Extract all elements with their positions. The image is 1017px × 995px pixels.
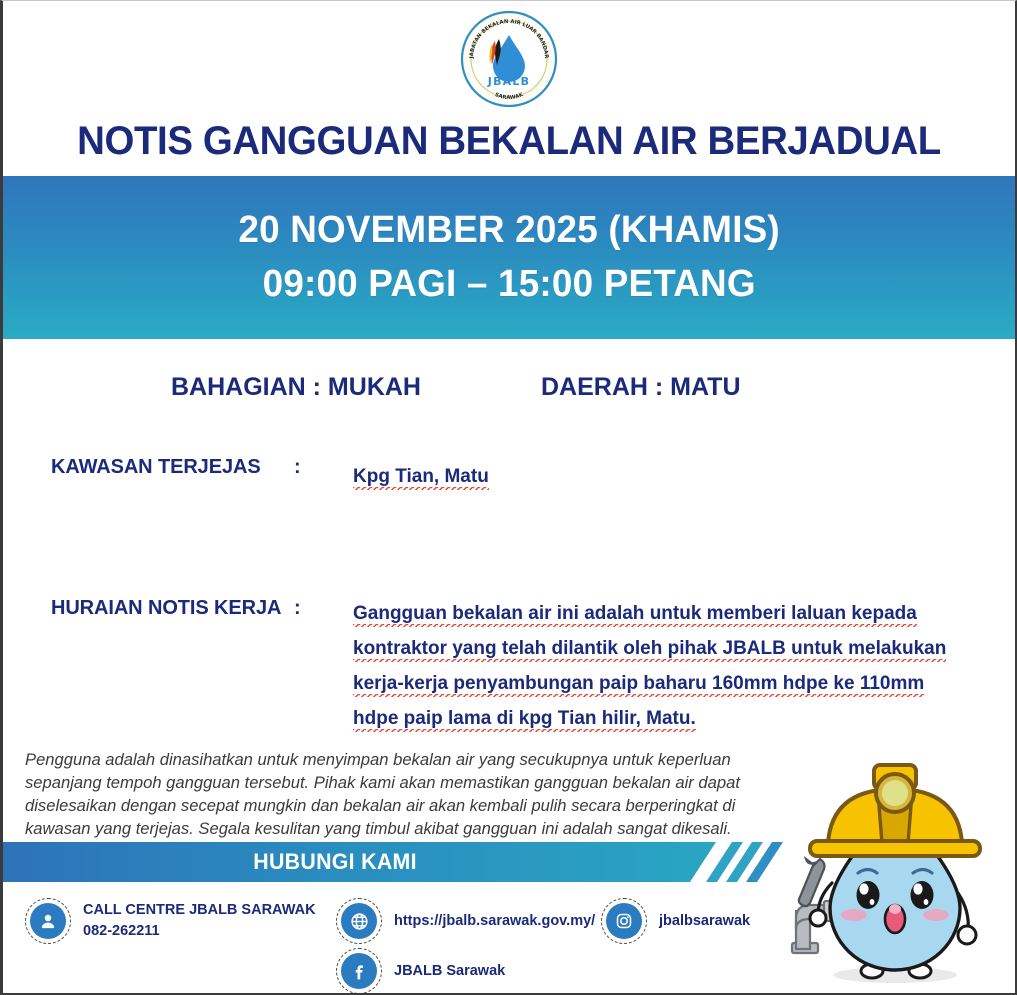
facebook-handle: JBALB Sarawak (394, 961, 505, 982)
huraian-line: Gangguan bekalan air ini adalah untuk me… (353, 603, 917, 627)
huraian-line: hdpe paip lama di kpg Tian hilir, Matu. (353, 708, 696, 732)
hard-hat-icon (810, 765, 980, 856)
huraian-label: HURAIAN NOTIS KERJA (51, 597, 281, 620)
notice-poster: JBALB JABATAN BEKALAN AIR LUAR BANDAR SA… (0, 0, 1017, 995)
huraian-colon: : (294, 597, 301, 620)
jbalb-logo: JBALB JABATAN BEKALAN AIR LUAR BANDAR SA… (459, 9, 559, 109)
call-centre-text: CALL CENTRE JBALB SARAWAK 082-262211 (83, 900, 316, 941)
kawasan-colon: : (294, 456, 301, 479)
svg-text:JBALB: JBALB (487, 75, 530, 88)
contact-facebook[interactable]: JBALB Sarawak (336, 948, 505, 994)
kawasan-label: KAWASAN TERJEJAS (51, 456, 261, 479)
kawasan-value-text: Kpg Tian, Matu (353, 466, 489, 490)
huraian-value: Gangguan bekalan air ini adalah untuk me… (353, 596, 953, 736)
bahagian-label: BAHAGIAN : MUKAH (171, 373, 421, 402)
disclaimer-text: Pengguna adalah dinasihatkan untuk menyi… (25, 749, 755, 841)
contact-website[interactable]: https://jbalb.sarawak.gov.my/ (336, 898, 595, 944)
page-title: NOTIS GANGGUAN BEKALAN AIR BERJADUAL (23, 119, 995, 164)
instagram-icon (601, 898, 647, 944)
contact-instagram[interactable]: jbalbsarawak (601, 898, 750, 944)
daerah-label: DAERAH : MATU (541, 373, 741, 402)
contact-heading: HUBUNGI KAMI (253, 849, 465, 875)
huraian-line: kontraktor yang telah dilantik oleh piha… (353, 638, 946, 662)
water-droplet-mascot (770, 743, 1010, 993)
outage-time: 09:00 PAGI – 15:00 PETANG (262, 258, 755, 312)
call-centre-line1: CALL CENTRE JBALB SARAWAK (83, 900, 316, 921)
contact-call-centre[interactable]: CALL CENTRE JBALB SARAWAK 082-262211 (25, 898, 316, 944)
call-centre-line2: 082-262211 (83, 921, 316, 942)
logo-container: JBALB JABATAN BEKALAN AIR LUAR BANDAR SA… (3, 9, 1015, 109)
contact-heading-bar: HUBUNGI KAMI (3, 842, 716, 882)
facebook-icon (336, 948, 382, 994)
huraian-line: kerja-kerja penyambungan paip baharu 160… (353, 673, 924, 697)
outage-date: 20 NOVEMBER 2025 (KHAMIS) (238, 204, 780, 258)
instagram-handle: jbalbsarawak (659, 911, 750, 932)
kawasan-value: Kpg Tian, Matu (353, 459, 489, 494)
globe-icon (336, 898, 382, 944)
website-url: https://jbalb.sarawak.gov.my/ (394, 911, 595, 932)
date-banner: 20 NOVEMBER 2025 (KHAMIS) 09:00 PAGI – 1… (3, 176, 1015, 339)
person-icon (25, 898, 71, 944)
